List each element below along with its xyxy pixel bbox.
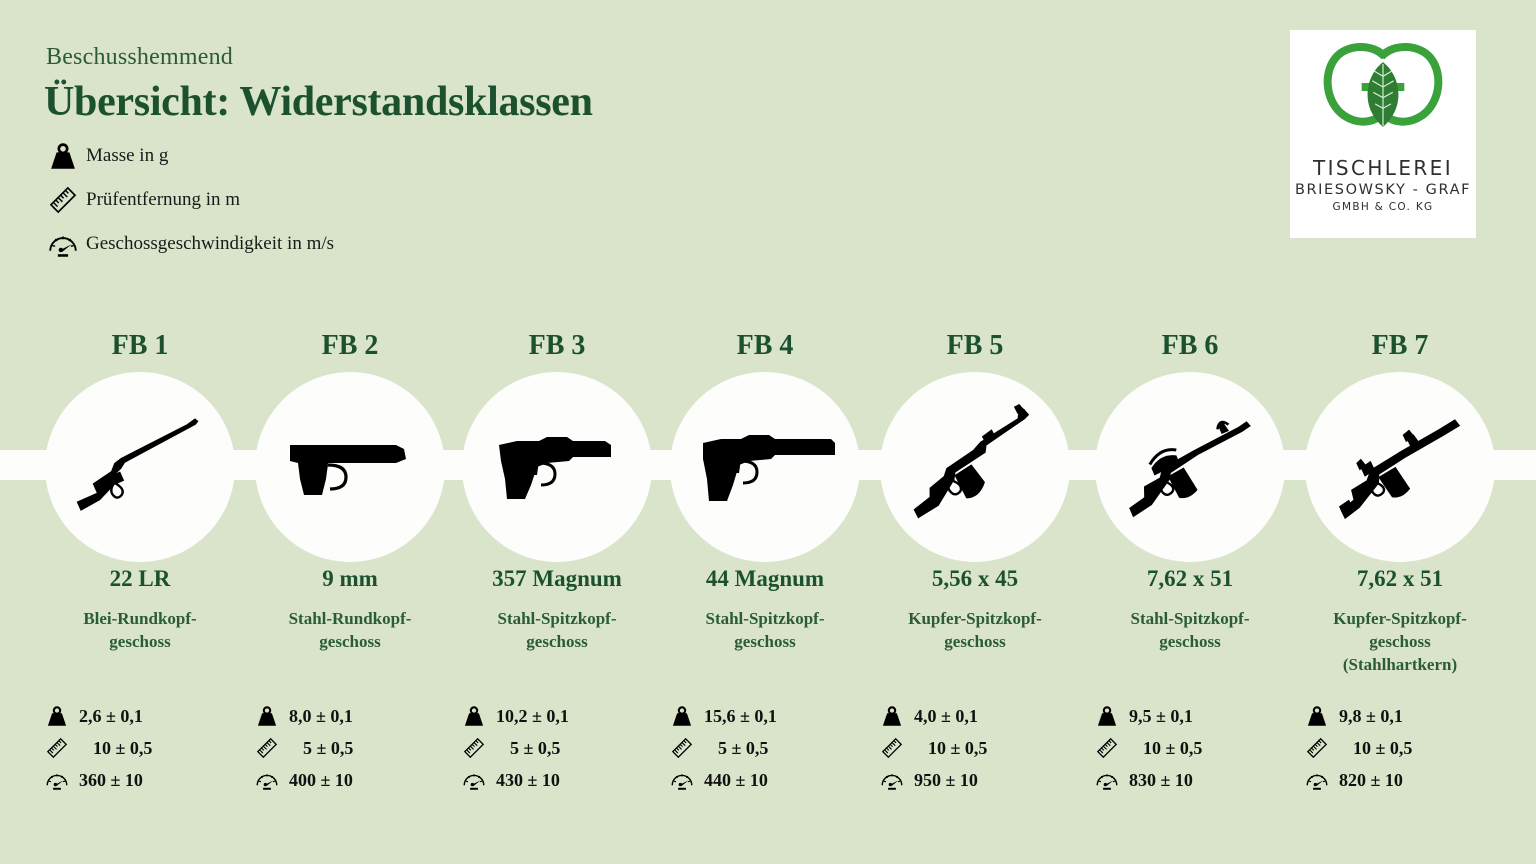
- weight-icon: [660, 701, 704, 731]
- bullet-line: Stahl-Rundkopf-: [250, 608, 450, 631]
- fb-label: FB 7: [1295, 330, 1505, 362]
- bullet-type-label: Stahl-Rundkopf-geschoss: [250, 608, 450, 654]
- caliber-label: 7,62 x 51: [1085, 566, 1295, 592]
- bullet-line: geschoss: [250, 631, 450, 654]
- stat-value-velocity: 440 ± 10: [704, 770, 870, 791]
- caliber-label: 22 LR: [35, 566, 245, 592]
- stat-row-mass: 8,0 ± 0,1: [245, 700, 455, 732]
- stat-value-velocity: 830 ± 10: [1129, 770, 1295, 791]
- fb-label: FB 5: [870, 330, 1080, 362]
- weapon-circle: [462, 372, 652, 562]
- stat-row-mass: 9,8 ± 0,1: [1295, 700, 1505, 732]
- bullet-type-label: Stahl-Spitzkopf-geschoss: [457, 608, 657, 654]
- stat-row-distance: 5 ± 0,5: [245, 732, 455, 764]
- bullet-line: Stahl-Spitzkopf-: [457, 608, 657, 631]
- weight-icon: [35, 701, 79, 731]
- ruler-icon: [870, 733, 914, 763]
- stat-value-distance: 10 ± 0,5: [79, 738, 245, 759]
- stat-value-velocity: 950 ± 10: [914, 770, 1080, 791]
- stat-row-mass: 2,6 ± 0,1: [35, 700, 245, 732]
- weight-icon: [870, 701, 914, 731]
- bullet-line: Stahl-Spitzkopf-: [1090, 608, 1290, 631]
- fb-label: FB 2: [245, 330, 455, 362]
- stat-row-velocity: 360 ± 10: [35, 764, 245, 796]
- stat-value-mass: 9,8 ± 0,1: [1339, 706, 1505, 727]
- m16-rifle-icon: [1110, 387, 1270, 547]
- weight-icon: [1295, 701, 1339, 731]
- stat-row-distance: 10 ± 0,5: [1295, 732, 1505, 764]
- stat-row-velocity: 950 ± 10: [870, 764, 1080, 796]
- stat-row-mass: 9,5 ± 0,1: [1085, 700, 1295, 732]
- stat-row-distance: 5 ± 0,5: [660, 732, 870, 764]
- stat-value-mass: 8,0 ± 0,1: [289, 706, 455, 727]
- stat-row-velocity: 430 ± 10: [452, 764, 662, 796]
- bullet-line: geschoss: [665, 631, 865, 654]
- weapon-circle: [880, 372, 1070, 562]
- stat-value-mass: 9,5 ± 0,1: [1129, 706, 1295, 727]
- bullet-type-label: Kupfer-Spitzkopf-geschoss(Stahlhartkern): [1300, 608, 1500, 677]
- speedometer-icon: [870, 765, 914, 795]
- stat-row-velocity: 820 ± 10: [1295, 764, 1505, 796]
- ak47-rifle-icon: [895, 387, 1055, 547]
- stats-block: 15,6 ± 0,15 ± 0,5440 ± 10: [660, 700, 870, 796]
- stat-row-velocity: 830 ± 10: [1085, 764, 1295, 796]
- classes-row: FB 1 22 LRBlei-Rundkopf-geschoss2,6 ± 0,…: [0, 0, 1536, 864]
- bullet-line: geschoss: [457, 631, 657, 654]
- bullet-line: geschoss: [1300, 631, 1500, 654]
- bullet-line: Kupfer-Spitzkopf-: [875, 608, 1075, 631]
- bullet-type-label: Blei-Rundkopf-geschoss: [40, 608, 240, 654]
- speedometer-icon: [1295, 765, 1339, 795]
- speedometer-icon: [1085, 765, 1129, 795]
- caliber-label: 7,62 x 51: [1295, 566, 1505, 592]
- fb-label: FB 3: [452, 330, 662, 362]
- ruler-icon: [35, 733, 79, 763]
- ar-carbine-icon: [1320, 387, 1480, 547]
- fb-label: FB 4: [660, 330, 870, 362]
- stats-block: 9,8 ± 0,110 ± 0,5820 ± 10: [1295, 700, 1505, 796]
- stat-row-distance: 5 ± 0,5: [452, 732, 662, 764]
- stat-value-distance: 10 ± 0,5: [1129, 738, 1295, 759]
- speedometer-icon: [35, 765, 79, 795]
- stat-value-distance: 10 ± 0,5: [1339, 738, 1505, 759]
- ruler-icon: [660, 733, 704, 763]
- caliber-label: 357 Magnum: [452, 566, 662, 592]
- revolver-long-icon: [685, 387, 845, 547]
- bullet-type-label: Stahl-Spitzkopf-geschoss: [665, 608, 865, 654]
- bullet-line: Blei-Rundkopf-: [40, 608, 240, 631]
- ruler-icon: [452, 733, 496, 763]
- stat-value-distance: 5 ± 0,5: [496, 738, 662, 759]
- stat-row-distance: 10 ± 0,5: [870, 732, 1080, 764]
- bullet-line: Kupfer-Spitzkopf-: [1300, 608, 1500, 631]
- stat-value-mass: 2,6 ± 0,1: [79, 706, 245, 727]
- stat-value-velocity: 430 ± 10: [496, 770, 662, 791]
- fb-label: FB 1: [35, 330, 245, 362]
- weapon-circle: [1305, 372, 1495, 562]
- stat-row-distance: 10 ± 0,5: [1085, 732, 1295, 764]
- stat-value-velocity: 400 ± 10: [289, 770, 455, 791]
- weight-icon: [1085, 701, 1129, 731]
- stat-value-distance: 10 ± 0,5: [914, 738, 1080, 759]
- stat-value-distance: 5 ± 0,5: [704, 738, 870, 759]
- stat-row-mass: 4,0 ± 0,1: [870, 700, 1080, 732]
- lever-action-rifle-icon: [60, 387, 220, 547]
- stats-block: 2,6 ± 0,110 ± 0,5360 ± 10: [35, 700, 245, 796]
- ruler-icon: [1295, 733, 1339, 763]
- weight-icon: [452, 701, 496, 731]
- weapon-circle: [255, 372, 445, 562]
- stat-row-mass: 15,6 ± 0,1: [660, 700, 870, 732]
- speedometer-icon: [660, 765, 704, 795]
- weapon-circle: [1095, 372, 1285, 562]
- caliber-label: 44 Magnum: [660, 566, 870, 592]
- bullet-type-label: Kupfer-Spitzkopf-geschoss: [875, 608, 1075, 654]
- stats-block: 8,0 ± 0,15 ± 0,5400 ± 10: [245, 700, 455, 796]
- stat-value-mass: 15,6 ± 0,1: [704, 706, 870, 727]
- bullet-line: geschoss: [40, 631, 240, 654]
- stat-row-distance: 10 ± 0,5: [35, 732, 245, 764]
- stats-block: 4,0 ± 0,110 ± 0,5950 ± 10: [870, 700, 1080, 796]
- bullet-line: Stahl-Spitzkopf-: [665, 608, 865, 631]
- speedometer-icon: [245, 765, 289, 795]
- stat-row-velocity: 400 ± 10: [245, 764, 455, 796]
- weight-icon: [245, 701, 289, 731]
- ruler-icon: [1085, 733, 1129, 763]
- stat-value-distance: 5 ± 0,5: [289, 738, 455, 759]
- bullet-type-label: Stahl-Spitzkopf-geschoss: [1090, 608, 1290, 654]
- stat-row-mass: 10,2 ± 0,1: [452, 700, 662, 732]
- caliber-label: 5,56 x 45: [870, 566, 1080, 592]
- bullet-line: geschoss: [875, 631, 1075, 654]
- bullet-line: geschoss: [1090, 631, 1290, 654]
- stats-block: 9,5 ± 0,110 ± 0,5830 ± 10: [1085, 700, 1295, 796]
- speedometer-icon: [452, 765, 496, 795]
- infographic-page: Beschusshemmend Übersicht: Widerstandskl…: [0, 0, 1536, 864]
- stat-value-velocity: 360 ± 10: [79, 770, 245, 791]
- bullet-line: (Stahlhartkern): [1300, 654, 1500, 677]
- stat-row-velocity: 440 ± 10: [660, 764, 870, 796]
- stat-value-mass: 10,2 ± 0,1: [496, 706, 662, 727]
- weapon-circle: [670, 372, 860, 562]
- fb-label: FB 6: [1085, 330, 1295, 362]
- semi-auto-pistol-icon: [270, 387, 430, 547]
- revolver-short-icon: [477, 387, 637, 547]
- stat-value-mass: 4,0 ± 0,1: [914, 706, 1080, 727]
- caliber-label: 9 mm: [245, 566, 455, 592]
- weapon-circle: [45, 372, 235, 562]
- ruler-icon: [245, 733, 289, 763]
- stat-value-velocity: 820 ± 10: [1339, 770, 1505, 791]
- stats-block: 10,2 ± 0,15 ± 0,5430 ± 10: [452, 700, 662, 796]
